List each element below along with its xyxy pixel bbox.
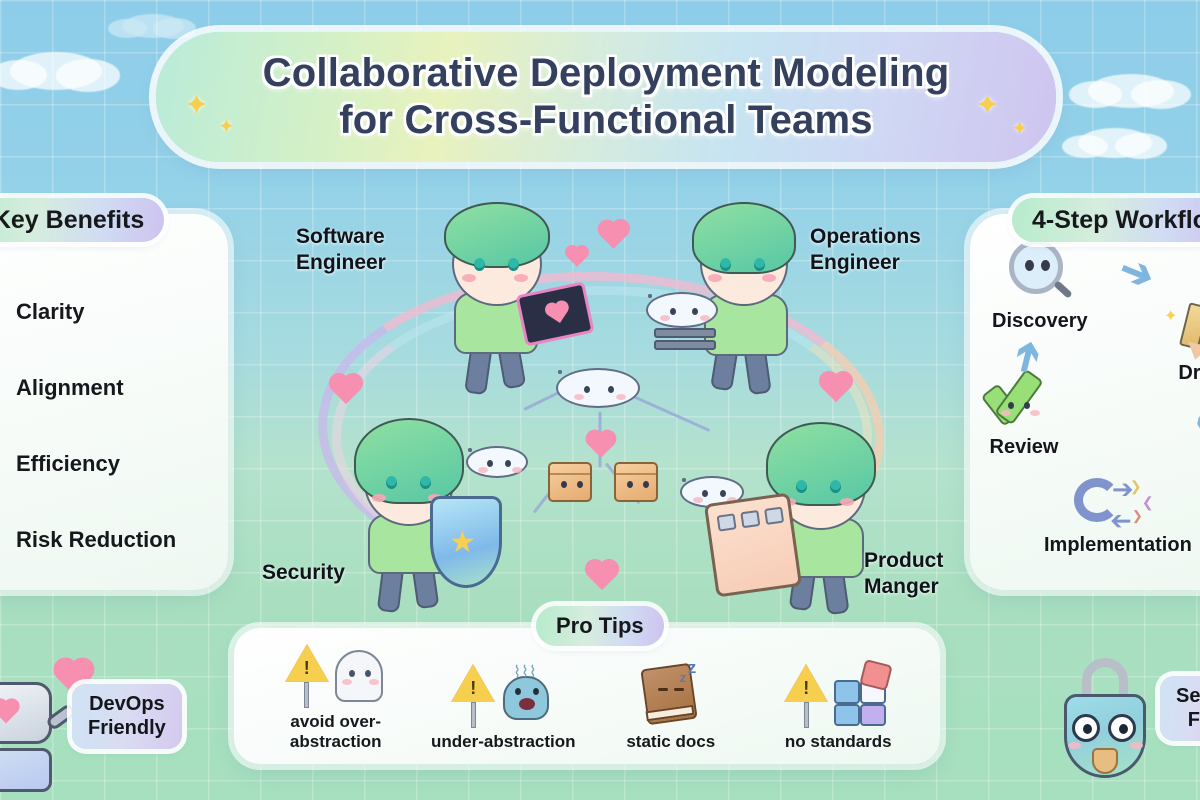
benefits-list: ✦ Clarity Alignment ✦ Efficiency [0,266,228,586]
role-label-operations-engineer: Operations Engineer [810,224,921,275]
monster-warning-icon: ! ⌇⌇⌇ [451,652,555,728]
benefit-label: Efficiency [16,451,120,477]
sleeping-book-icon: z z [636,652,706,728]
role-label-security: Security [262,560,345,586]
benefit-item-clarity[interactable]: ✦ Clarity [0,284,228,340]
padlock-glasses-icon [1052,656,1158,784]
workflow-step-draft[interactable]: ✦ Dra [1166,298,1200,385]
green-check-icon [984,372,1064,436]
tip-item-avoid-over-abstraction[interactable]: ! avoid over-abstraction [252,632,420,752]
tip-label: static docs [626,732,715,752]
box-node-right [614,462,658,502]
benefit-label: Risk Reduction [16,527,176,553]
workflow-step-label: Implementation [1044,534,1192,557]
character-software-engineer[interactable] [416,196,606,406]
shield-star-icon: ★ [430,496,502,588]
protips-list: ! avoid over-abstraction ! ⌇⌇ [234,628,940,764]
tip-item-static-docs[interactable]: z z static docs [587,652,755,752]
benefit-label: Alignment [16,375,124,401]
pencil-icon: ✦ [1166,298,1200,362]
role-label-software-engineer: Software Engineer [296,224,386,275]
page-title: Collaborative Deployment Modeling for Cr… [263,50,950,144]
workflow-panel-badge: 4-Step Workflo [1012,198,1200,242]
tip-label: under-abstraction [431,732,576,752]
page-title-line1: Collaborative Deployment Modeling [263,50,950,97]
cycle-arrows-icon: ➔ ➔ ❯ ❮ ❯ [1070,472,1166,534]
benefit-item-efficiency[interactable]: ✦ Efficiency [0,436,228,492]
workflow-step-label: Review [990,436,1059,459]
security-first-badge: Sec F [1160,676,1200,741]
sparkle-icon: ✦ [975,88,1000,123]
lightbulb-icon: ✦ [0,284,2,340]
devops-friendly-badge: DevOps Friendly [72,684,182,749]
tip-label: no standards [785,732,892,752]
benefit-label: Clarity [16,299,84,325]
workflow-step-label: Dra [1178,362,1200,385]
background-cloud [10,52,102,90]
protips-panel-badge: Pro Tips [536,606,664,646]
tip-label: avoid over-abstraction [252,712,420,752]
box-node-left [548,462,592,502]
benefit-item-risk-reduction[interactable]: ★ Risk Reduction [0,512,228,568]
benefit-item-alignment[interactable]: Alignment [0,360,228,416]
puzzle-warning-icon: ! [784,652,892,728]
tip-item-no-standards[interactable]: ! no standards [755,652,923,752]
workflow-step-review[interactable]: Review [984,372,1064,459]
benefits-panel: ✦ Clarity Alignment ✦ Efficiency [0,214,228,590]
rocket-icon: ✦ [0,436,2,492]
scroll-icon [704,492,802,597]
ghost-warning-icon: ! [285,632,387,708]
cloud-server-icon [642,292,726,348]
magnifying-glass-icon [1003,238,1077,310]
benefits-panel-badge: 4 Key Benefits [0,198,164,242]
role-label-product-manager: Product Manger [864,548,943,599]
arrow-right-icon: ➔ [1113,245,1161,300]
title-banner: Collaborative Deployment Modeling for Cr… [156,32,1056,162]
workflow-step-label: Discovery [992,310,1088,333]
shield-icon: ★ [0,512,2,568]
protips-panel: ! avoid over-abstraction ! ⌇⌇ [234,628,940,764]
background-cloud [1078,128,1152,158]
arrow-down-icon: ➔ [1182,399,1200,443]
page-title-line2: for Cross-Functional Teams [263,97,950,144]
workflow-panel: Discovery ➔ ✦ Dra ➔ ➔ ➔ ❯ ❮ ❯ Implementa… [970,214,1200,590]
character-security[interactable]: ★ [318,414,518,614]
puzzle-piece-icon [0,360,2,416]
sparkle-icon: ✦ [184,88,209,123]
background-cloud [1088,74,1174,108]
tip-item-under-abstraction[interactable]: ! ⌇⌇⌇ under-abstraction [420,652,588,752]
workflow-step-discovery[interactable]: Discovery [992,238,1088,333]
sparkle-icon: ✦ [1011,116,1028,141]
sparkle-icon: ✦ [218,114,235,139]
workflow-step-implementation[interactable]: ➔ ➔ ❯ ❮ ❯ Implementation [1044,472,1192,557]
background-cloud [122,14,184,38]
